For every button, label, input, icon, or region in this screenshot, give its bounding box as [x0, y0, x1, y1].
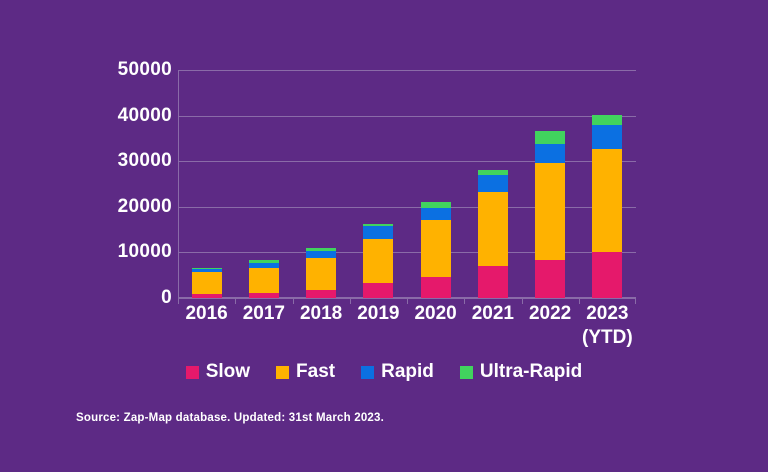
x-tick-year: 2022 [529, 303, 571, 324]
bars-layer [178, 70, 636, 298]
bar-slot-2023 [579, 70, 636, 298]
x-tick-year: 2023 [586, 303, 628, 324]
bar-slot-2018 [293, 70, 350, 298]
legend-label: Slow [206, 361, 250, 383]
bar-slot-2022 [522, 70, 579, 298]
bar-segment-fast[interactable] [249, 268, 279, 293]
bar-segment-fast[interactable] [192, 272, 222, 293]
bar-stack[interactable] [592, 115, 622, 298]
legend-swatch-icon [276, 366, 289, 379]
bar-segment-rapid[interactable] [363, 226, 393, 240]
x-axis-tick-label-2016: 2016 [178, 302, 235, 350]
bar-slot-2021 [464, 70, 521, 298]
bar-segment-fast[interactable] [306, 258, 336, 290]
bar-segment-rapid[interactable] [306, 251, 336, 258]
bar-segment-rapid[interactable] [421, 208, 451, 220]
x-tick-year: 2017 [243, 303, 285, 324]
bar-segment-rapid[interactable] [478, 175, 508, 192]
bar-segment-ultra-rapid[interactable] [592, 115, 622, 125]
x-axis-tick-labels: 20162017201820192020202120222023(YTD) [178, 302, 636, 350]
legend-label: Ultra-Rapid [480, 361, 582, 383]
legend-label: Fast [296, 361, 335, 383]
bar-segment-fast[interactable] [592, 149, 622, 253]
y-axis-tick-label: 30000 [52, 150, 172, 172]
bar-segment-slow[interactable] [249, 293, 279, 298]
bar-stack[interactable] [478, 170, 508, 298]
y-axis-tick-label: 10000 [52, 241, 172, 263]
bar-segment-fast[interactable] [535, 163, 565, 260]
legend-item-ultra-rapid[interactable]: Ultra-Rapid [460, 361, 582, 383]
x-axis-tick-label-2017: 2017 [235, 302, 292, 350]
x-axis-tick-label-2023: 2023(YTD) [579, 302, 636, 350]
bar-segment-fast[interactable] [421, 220, 451, 278]
x-tick-year: 2016 [185, 303, 227, 324]
chart-legend: SlowFastRapidUltra-Rapid [0, 361, 768, 383]
bar-segment-slow[interactable] [478, 266, 508, 298]
bar-slot-2017 [235, 70, 292, 298]
legend-swatch-icon [186, 366, 199, 379]
x-tick-year: 2019 [357, 303, 399, 324]
bar-segment-slow[interactable] [535, 260, 565, 298]
legend-swatch-icon [460, 366, 473, 379]
y-axis-tick-label: 40000 [52, 105, 172, 127]
bar-segment-fast[interactable] [363, 239, 393, 282]
x-tick-year: 2021 [472, 303, 514, 324]
bar-stack[interactable] [249, 260, 279, 298]
bar-stack[interactable] [421, 202, 451, 298]
bar-segment-slow[interactable] [192, 294, 222, 298]
y-axis-tick-label: 0 [52, 287, 172, 309]
bar-segment-slow[interactable] [363, 283, 393, 299]
bar-segment-rapid[interactable] [592, 125, 622, 149]
legend-item-slow[interactable]: Slow [186, 361, 250, 383]
bar-slot-2016 [178, 70, 235, 298]
bar-segment-slow[interactable] [421, 277, 451, 298]
x-axis-tick-label-2021: 2021 [464, 302, 521, 350]
bar-slot-2019 [350, 70, 407, 298]
gridline [178, 298, 636, 299]
x-axis-tick-label-2020: 2020 [407, 302, 464, 350]
y-axis-tick-label: 20000 [52, 196, 172, 218]
chart-container: 01000020000300004000050000 2016201720182… [0, 0, 768, 472]
x-axis-tick-label-2018: 2018 [293, 302, 350, 350]
x-tick-year: 2018 [300, 303, 342, 324]
bar-segment-ultra-rapid[interactable] [535, 131, 565, 145]
x-axis-tick-label-2019: 2019 [350, 302, 407, 350]
bar-segment-fast[interactable] [478, 192, 508, 266]
y-axis-tick-label: 50000 [52, 59, 172, 81]
bar-segment-slow[interactable] [306, 290, 336, 298]
bar-stack[interactable] [535, 131, 565, 298]
legend-item-fast[interactable]: Fast [276, 361, 335, 383]
bar-stack[interactable] [306, 248, 336, 298]
bar-segment-rapid[interactable] [535, 144, 565, 162]
legend-swatch-icon [361, 366, 374, 379]
source-note: Source: Zap-Map database. Updated: 31st … [76, 412, 384, 424]
bar-stack[interactable] [192, 268, 222, 298]
bar-stack[interactable] [363, 224, 393, 298]
x-tick-sublabel: (YTD) [579, 326, 636, 350]
x-tick-year: 2020 [414, 303, 456, 324]
bar-slot-2020 [407, 70, 464, 298]
legend-label: Rapid [381, 361, 434, 383]
bar-segment-slow[interactable] [592, 252, 622, 298]
x-axis-tick-label-2022: 2022 [522, 302, 579, 350]
legend-item-rapid[interactable]: Rapid [361, 361, 434, 383]
